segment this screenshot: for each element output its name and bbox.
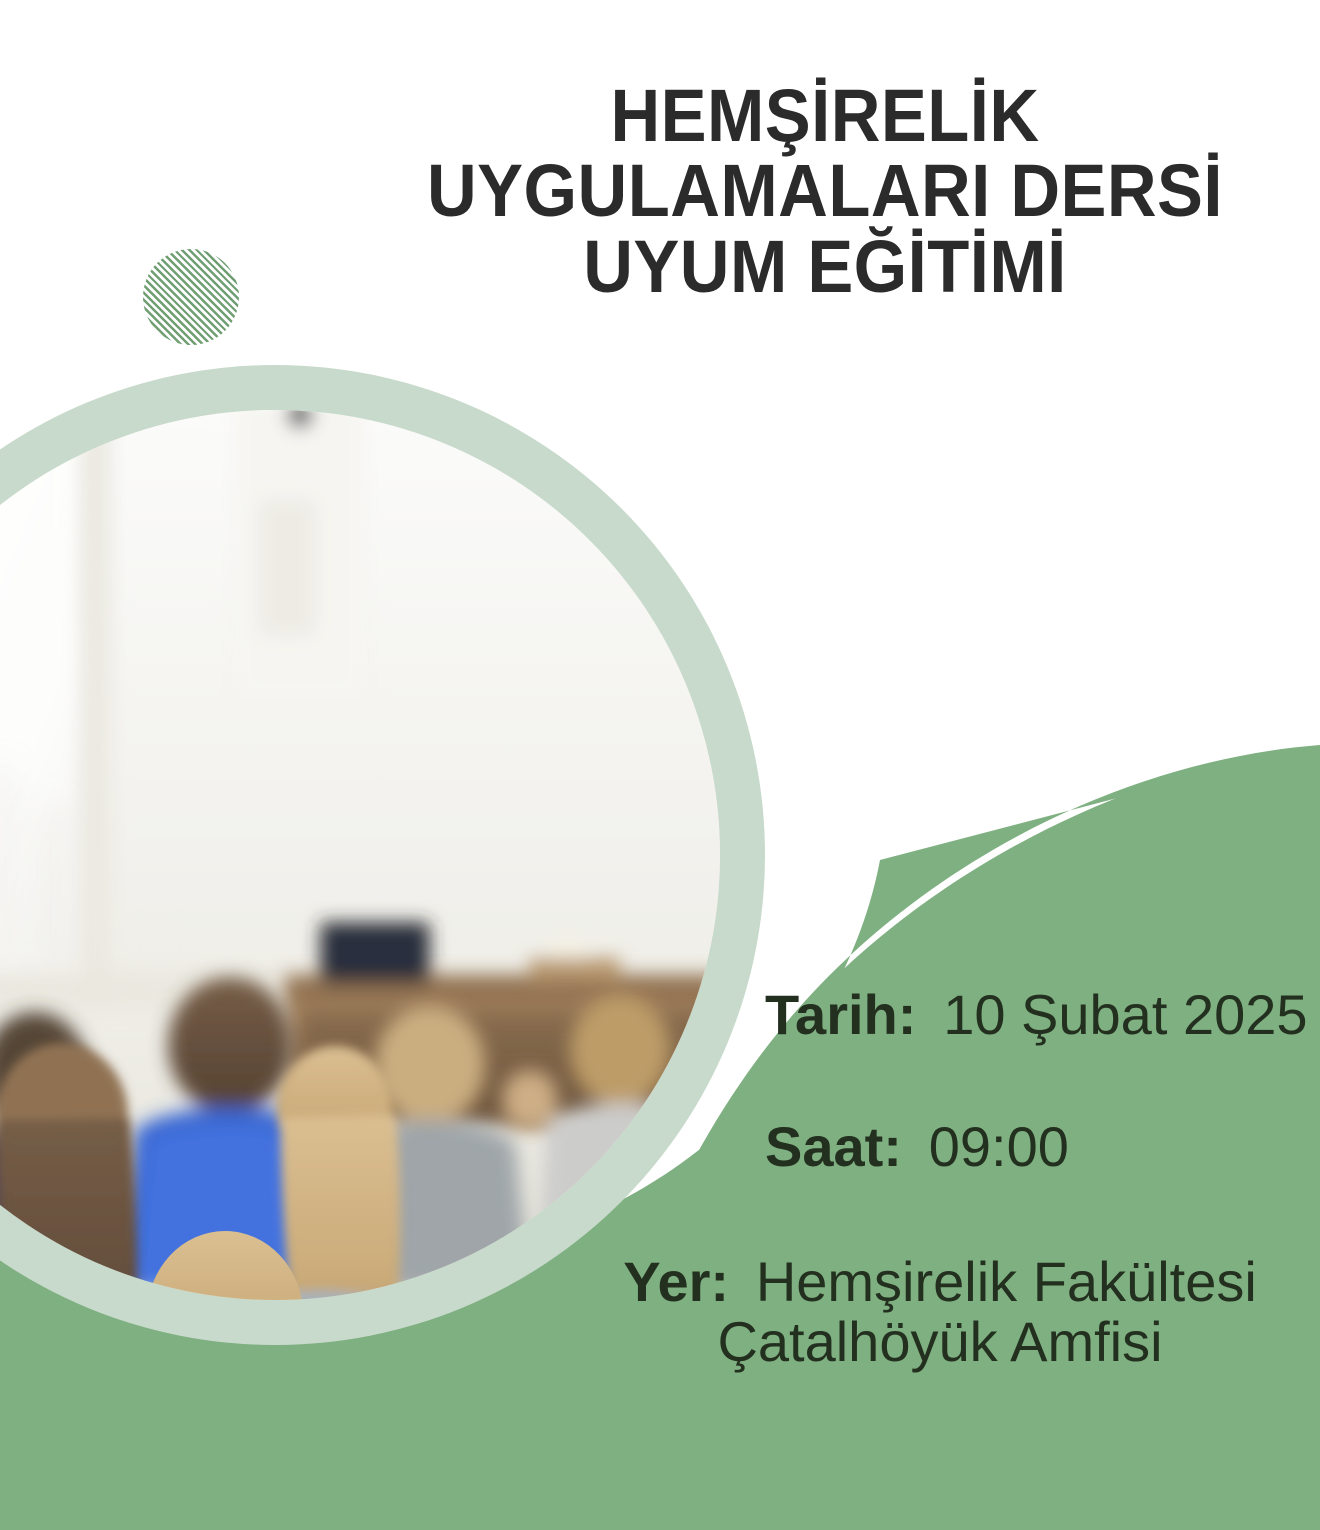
event-poster: HEMŞİRELİK UYGULAMALARI DERSİ UYUM EĞİTİ…	[0, 0, 1320, 1530]
event-date-value: 10 Şubat 2025	[943, 983, 1307, 1046]
event-place-row: Yer: Hemşirelik Fakültesi Çatalhöyük Amf…	[560, 1252, 1320, 1373]
striped-circle-icon	[143, 249, 239, 345]
title-line-3: UYUM EĞİTİMİ	[365, 229, 1286, 304]
event-place-label: Yer:	[623, 1250, 740, 1313]
event-place-value-line2: Çatalhöyük Amfisi	[560, 1312, 1320, 1372]
event-time-row: Saat: 09:00	[560, 1117, 1320, 1177]
event-date-row: Tarih: 10 Şubat 2025	[560, 985, 1320, 1045]
event-place-value-line1: Hemşirelik Fakültesi	[756, 1250, 1257, 1313]
event-details: Tarih: 10 Şubat 2025 Saat: 09:00 Yer: He…	[560, 985, 1320, 1373]
page-title: HEMŞİRELİK UYGULAMALARI DERSİ UYUM EĞİTİ…	[365, 78, 1286, 304]
event-time-label: Saat:	[765, 1115, 913, 1178]
title-line-1: HEMŞİRELİK	[365, 78, 1286, 153]
title-line-2: UYGULAMALARI DERSİ	[365, 153, 1286, 228]
event-time-value: 09:00	[929, 1115, 1069, 1178]
event-date-label: Tarih:	[765, 983, 928, 1046]
